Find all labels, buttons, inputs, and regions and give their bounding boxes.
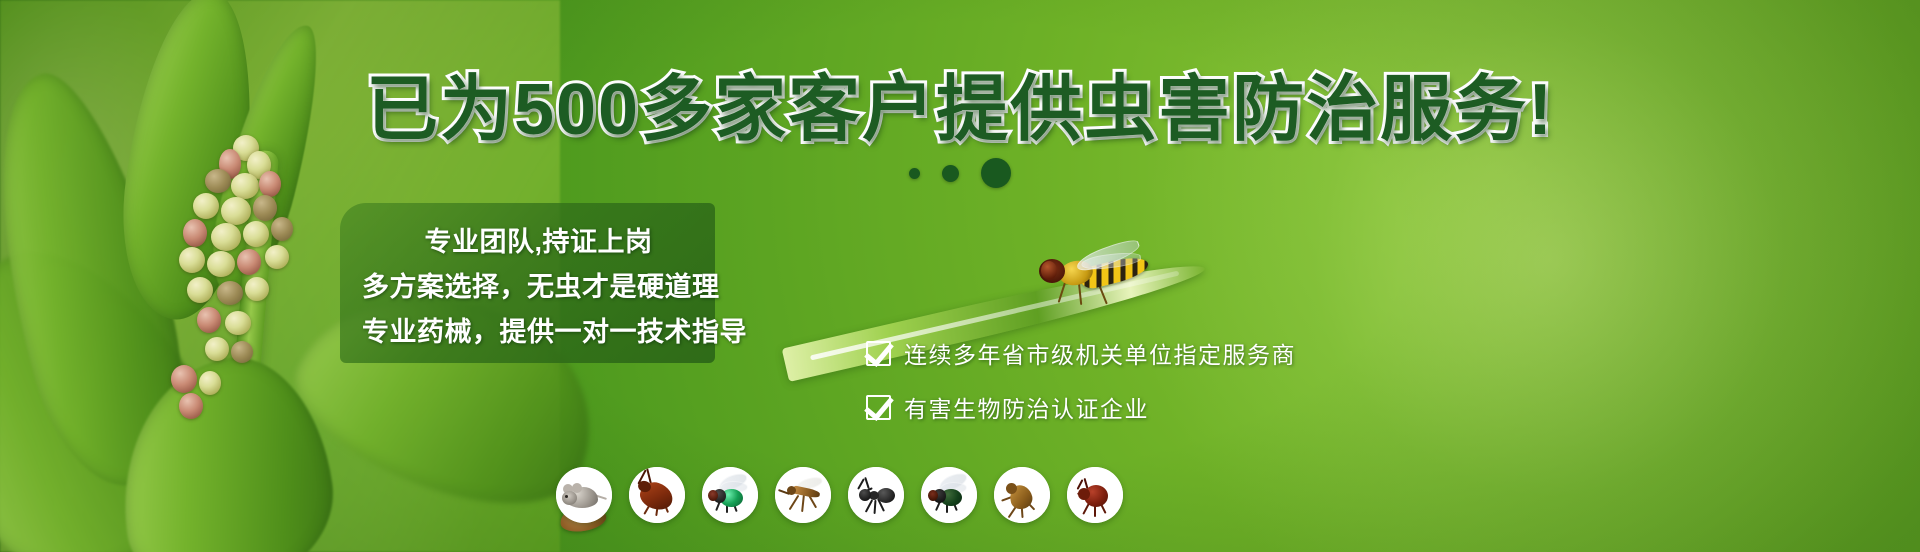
banner-headline: 已为500多家客户提供虫害防治服务! [0,74,1920,146]
feature-line-2: 多方案选择，无虫才是硬道理 [362,265,697,304]
dot-medium-icon [942,165,959,182]
mouse-icon[interactable] [556,467,612,523]
mosquito-icon[interactable] [775,467,831,523]
dot-large-icon [981,158,1011,188]
feature-line-3: 专业药械，提供一对一技术指导 [362,310,697,349]
flea-icon[interactable] [994,467,1050,523]
hoverfly-insect-image [1035,243,1155,305]
checklist-item-label: 连续多年省市级机关单位指定服务商 [904,336,1296,370]
ant-icon[interactable] [848,467,904,523]
greenbottle-fly-icon[interactable] [702,467,758,523]
pest-control-hero-banner: 已为500多家客户提供虫害防治服务! 专业团队,持证上岗 多方案选择，无虫才是硬… [0,0,1920,552]
checklist-item: 有害生物防治认证企业 [866,390,1296,424]
feature-line-1: 专业团队,持证上岗 [362,220,697,259]
dot-small-icon [909,168,920,179]
checklist-item: 连续多年省市级机关单位指定服务商 [866,336,1296,370]
checkbox-checked-icon [866,341,891,366]
cockroach-icon[interactable] [629,467,685,523]
decorative-dot-row [0,158,1920,188]
bedbug-icon[interactable] [1067,467,1123,523]
credentials-checklist: 连续多年省市级机关单位指定服务商 有害生物防治认证企业 [866,336,1296,424]
pest-type-icon-row [556,467,1123,523]
banner-headline-text: 已为500多家客户提供虫害防治服务! [366,70,1554,150]
feature-highlight-box: 专业团队,持证上岗 多方案选择，无虫才是硬道理 专业药械，提供一对一技术指导 [340,203,715,363]
checkbox-checked-icon [866,395,891,420]
housefly-icon[interactable] [921,467,977,523]
checklist-item-label: 有害生物防治认证企业 [904,390,1149,424]
